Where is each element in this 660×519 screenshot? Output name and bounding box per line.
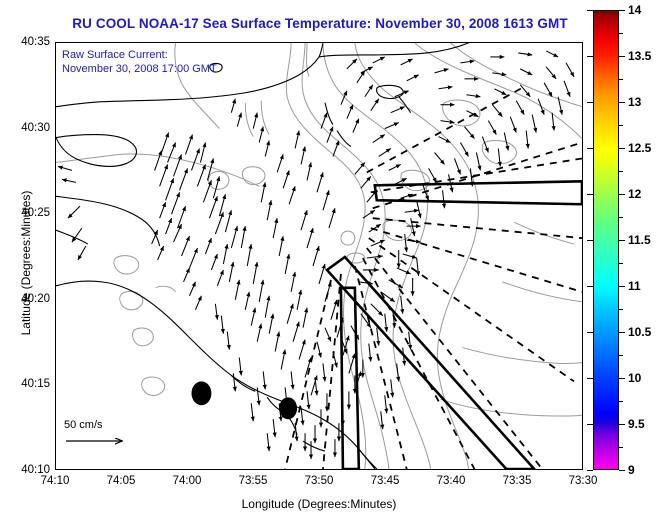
- map-plot-area: Raw Surface Current: November 30, 2008 1…: [55, 42, 583, 470]
- ytick-1: 40:15: [8, 378, 50, 390]
- xtick-1: 74:05: [107, 475, 136, 487]
- cb-label-6: 12: [628, 187, 641, 201]
- station-marker-1: [191, 381, 211, 405]
- xtick-8: 73:30: [569, 475, 598, 487]
- cb-label-8: 13: [628, 95, 641, 109]
- figure-title: RU COOL NOAA-17 Sea Surface Temperature:…: [55, 16, 585, 31]
- coastline: [56, 43, 468, 469]
- xtick-3: 73:55: [239, 475, 268, 487]
- y-axis-label: Latitude (Degrees:Minutes): [19, 163, 33, 363]
- xtick-7: 73:35: [503, 475, 532, 487]
- cb-label-10: 14: [628, 3, 641, 17]
- cb-label-1: 9.5: [628, 417, 645, 431]
- station-marker-2: [279, 397, 297, 419]
- xtick-0: 74:10: [41, 475, 70, 487]
- cb-label-7: 12.5: [628, 141, 651, 155]
- scale-bar-label: 50 cm/s: [64, 419, 156, 431]
- figure-root: RU COOL NOAA-17 Sea Surface Temperature:…: [0, 0, 660, 519]
- cb-label-4: 11: [628, 279, 641, 293]
- cb-label-9: 13.5: [628, 49, 651, 63]
- xtick-5: 73:45: [371, 475, 400, 487]
- cb-label-5: 11.5: [628, 233, 651, 247]
- sst-contours: [56, 43, 582, 469]
- cb-label-0: 9: [628, 463, 635, 477]
- right-arrow-icon: [64, 434, 134, 448]
- velocity-scale-bar: 50 cm/s: [64, 419, 156, 455]
- surface-current-vectors: [58, 51, 574, 459]
- xtick-6: 73:40: [437, 475, 466, 487]
- ytick-5: 40:35: [8, 36, 50, 48]
- xtick-2: 74:00: [173, 475, 202, 487]
- radar-rays: [285, 87, 582, 469]
- cb-label-3: 10.5: [628, 325, 651, 339]
- ytick-4: 40:30: [8, 122, 50, 134]
- cb-label-2: 10: [628, 371, 641, 385]
- colorbar-gradient: [593, 10, 619, 470]
- ytick-0: 40:10: [8, 464, 50, 476]
- map-canvas: [56, 43, 582, 469]
- xtick-4: 73:50: [305, 475, 334, 487]
- x-axis-label: Longitude (Degrees:Minutes): [55, 497, 583, 511]
